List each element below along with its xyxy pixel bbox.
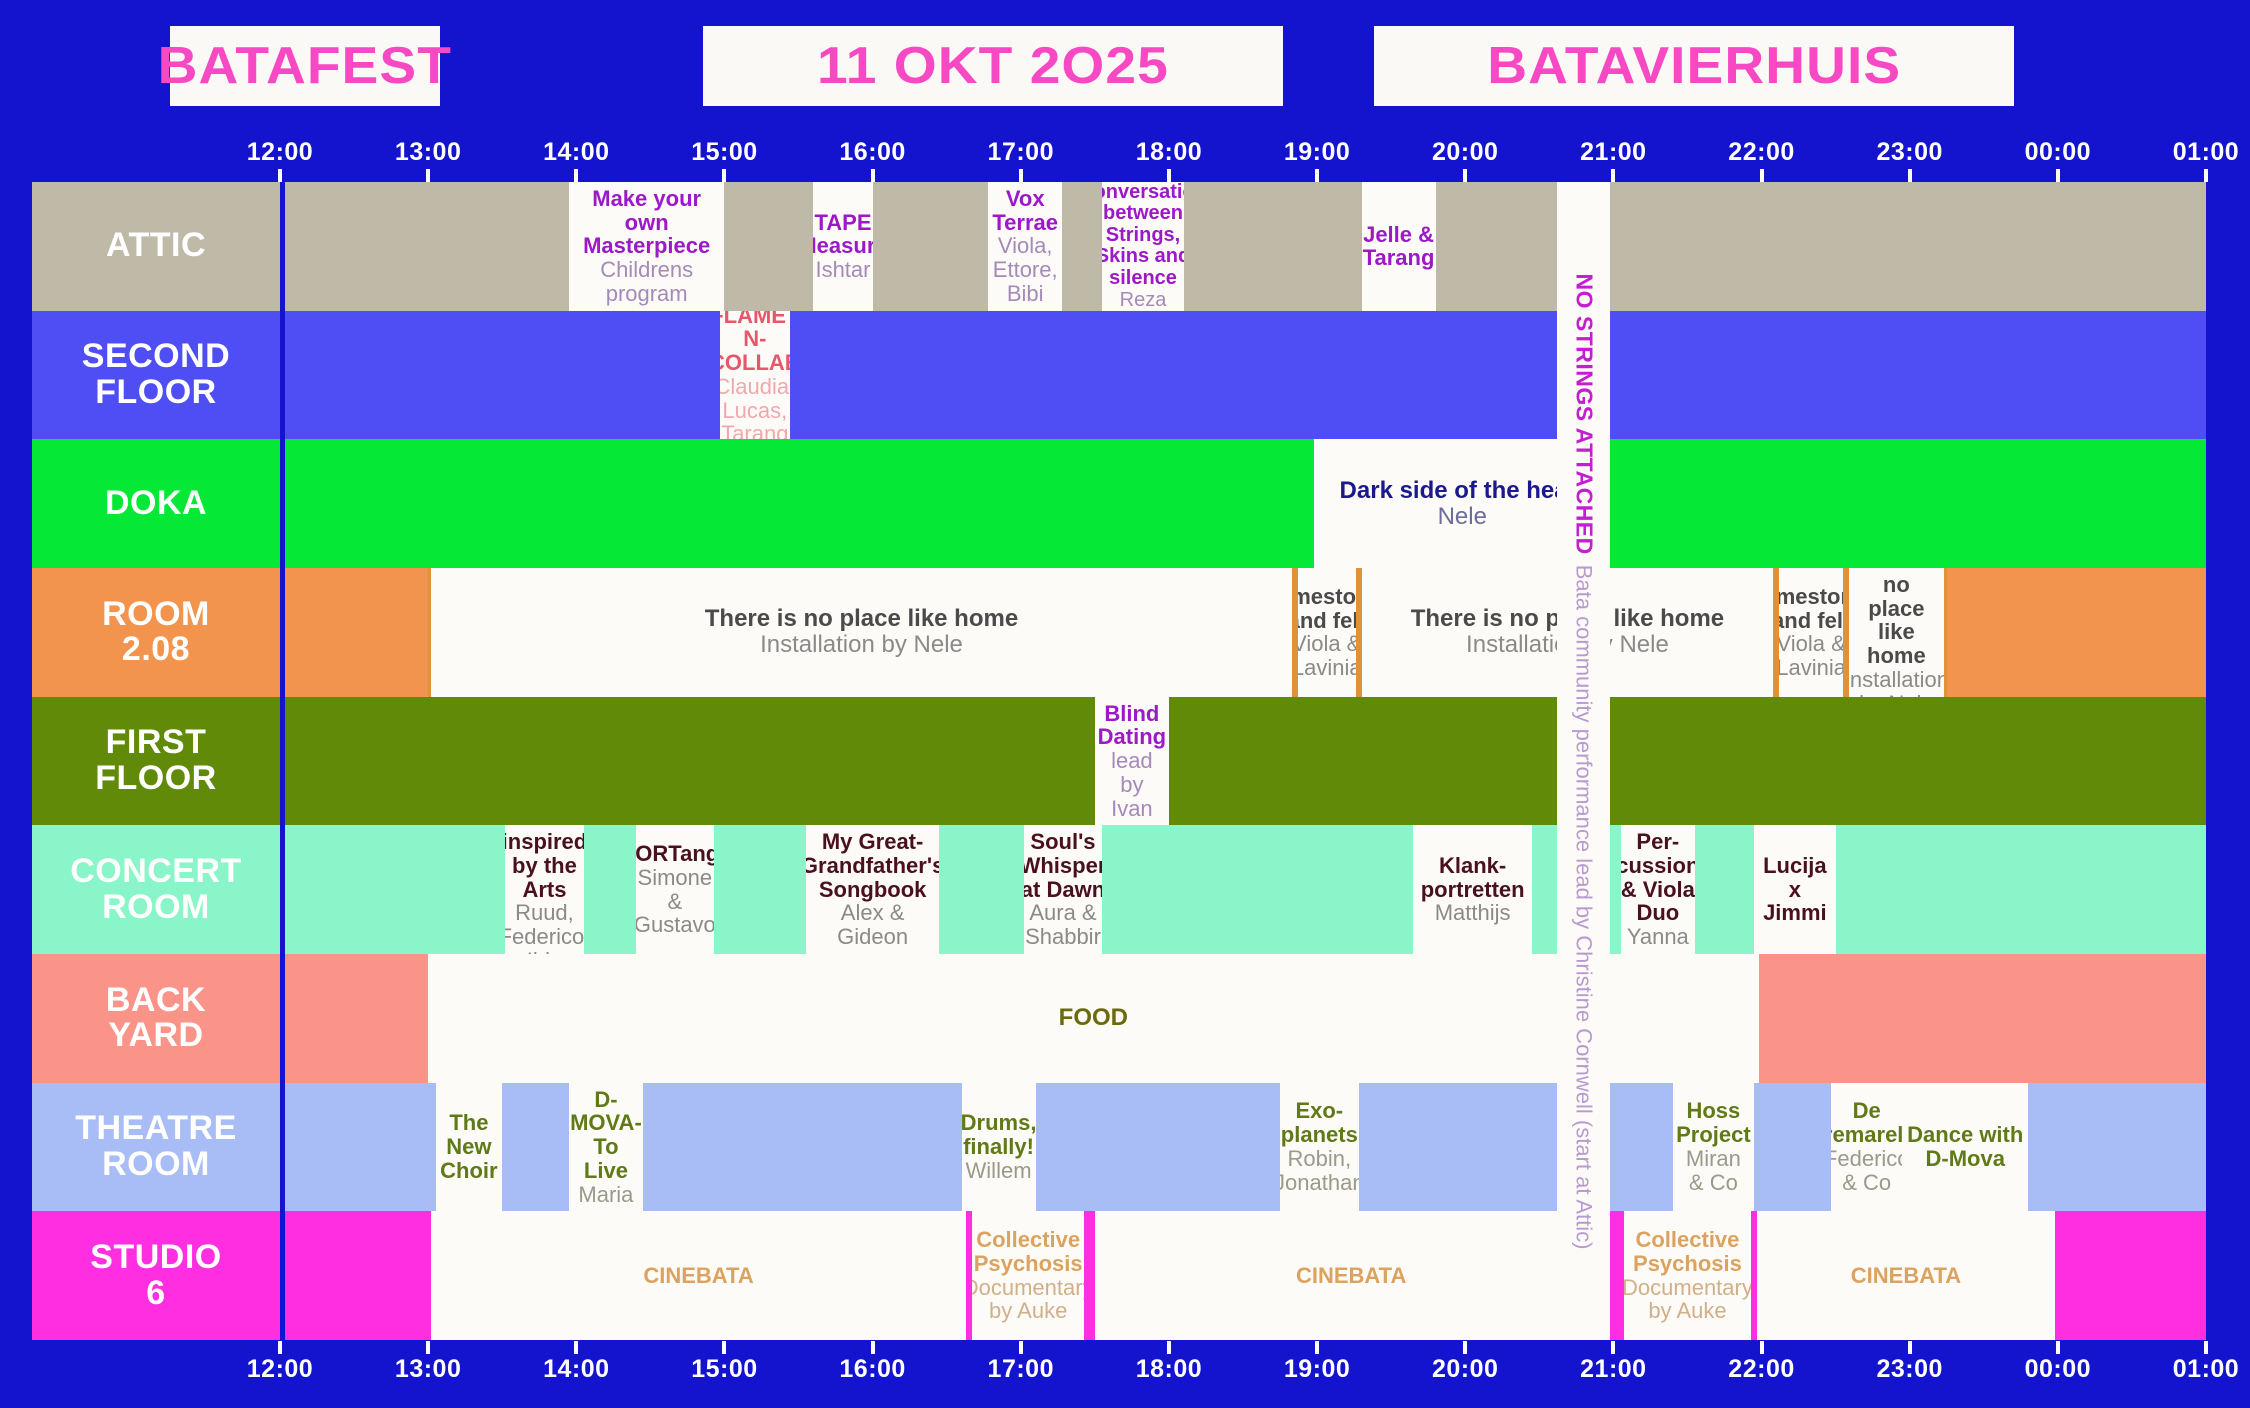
event-title: Collective Psychosis <box>1627 1228 1748 1276</box>
room-track: Blind Datinglead by Ivan <box>280 697 2206 826</box>
event-subtitle: Nele <box>1438 504 1487 530</box>
time-tick-mark <box>2056 1341 2060 1354</box>
event-block[interactable]: Drums, finally!Willem <box>962 1083 1036 1212</box>
festival-venue-box: BATAVIERHUIS <box>1374 26 2014 106</box>
event-title: Limestone and felt <box>1776 585 1846 633</box>
event-subtitle: Simone & Gustavo <box>636 866 715 937</box>
time-tick-mark <box>426 1341 430 1354</box>
event-title: Jelle & Tarang <box>1363 223 1435 271</box>
event-subtitle: Alex & Gideon <box>809 901 936 949</box>
room-track: Make your own MasterpieceChildrens progr… <box>280 182 2206 311</box>
time-tick-mark <box>574 1341 578 1354</box>
event-title: Hoss Project <box>1676 1099 1751 1147</box>
event-block[interactable]: Blind Datinglead by Ivan <box>1095 697 1169 826</box>
time-tick-mark <box>426 169 430 182</box>
schedule-grid: ATTICMake your own MasterpieceChildrens … <box>32 182 2206 1340</box>
time-tick-label: 00:00 <box>2025 1355 2091 1384</box>
event-title: Limestone and felt <box>1295 585 1359 633</box>
event-title: CINEBATA <box>1851 1264 1961 1288</box>
event-block[interactable]: Collective PsychosisDocumentary by Auke <box>1621 1211 1754 1340</box>
time-tick-label: 01:00 <box>2173 138 2239 167</box>
event-block[interactable]: Exo-planetsRobin, Jonathan <box>1280 1083 1359 1212</box>
time-tick-label: 12:00 <box>247 138 313 167</box>
time-tick-mark <box>2204 1341 2208 1354</box>
time-tick-mark <box>574 169 578 182</box>
time-tick-mark <box>1908 1341 1912 1354</box>
event-subtitle: Yanna <box>1627 925 1689 949</box>
time-tick-label: 14:00 <box>543 138 609 167</box>
event-title: Exo-planets <box>1281 1099 1358 1147</box>
room-label: ROOM2.08 <box>32 568 280 697</box>
event-subtitle: Ishtar <box>815 258 870 282</box>
time-tick-label: 23:00 <box>1876 1355 1942 1384</box>
event-block[interactable]: FLAME -N- COLLABClaudia, Lucas, Tarang <box>720 311 790 440</box>
no-strings-attached-subtitle: Bata community performance lead by Chris… <box>1570 564 1596 1249</box>
time-tick-mark <box>1167 1341 1171 1354</box>
event-title: CINEBATA <box>1296 1264 1406 1288</box>
event-subtitle: Installation by Nele <box>1846 668 1947 697</box>
schedule-row-concert-room: CONCERTROOMMusic inspired by the ArtsRuu… <box>32 825 2206 954</box>
time-tick-mark <box>1908 169 1912 182</box>
time-tick-mark <box>1019 1341 1023 1354</box>
time-tick-label: 15:00 <box>691 138 757 167</box>
event-block[interactable]: My Great-Grandfather's SongbookAlex & Gi… <box>806 825 939 954</box>
time-tick-mark <box>1611 169 1615 182</box>
event-block[interactable]: CINEBATA <box>428 1211 969 1340</box>
event-subtitle: Miran & Co <box>1676 1147 1751 1195</box>
time-tick-label: 01:00 <box>2173 1355 2239 1384</box>
schedule-row-studio-6: STUDIO6CINEBATACollective PsychosisDocum… <box>32 1211 2206 1340</box>
event-subtitle: Ruud, Federico, Ildo <box>505 901 584 953</box>
schedule-row-doka: DOKADark side of the heartNele <box>32 439 2206 568</box>
festival-date-box: 11 OKT 2O25 <box>703 26 1283 106</box>
event-block[interactable]: Klank-portrettenMatthijs <box>1413 825 1532 954</box>
time-tick-label: 19:00 <box>1284 1355 1350 1384</box>
event-block[interactable]: TAPE MeasureIshtar <box>813 182 872 311</box>
event-title: My Great-Grandfather's Songbook <box>806 830 939 901</box>
time-tick-mark <box>278 1341 282 1354</box>
time-tick-label: 13:00 <box>395 138 461 167</box>
time-tick-mark <box>871 169 875 182</box>
time-tick-mark <box>722 169 726 182</box>
festival-name: BATAFEST <box>158 36 452 96</box>
time-tick-mark <box>278 169 282 182</box>
event-block[interactable]: Per-cussion & Viola DuoYanna <box>1621 825 1695 954</box>
time-tick-label: 17:00 <box>988 138 1054 167</box>
event-block[interactable]: CINEBATA <box>1754 1211 2058 1340</box>
room-track: Dark side of the heartNele <box>280 439 2206 568</box>
header-band: BATAFEST 11 OKT 2O25 BATAVIERHUIS <box>0 26 2250 106</box>
event-subtitle: Aura & Shabbir <box>1025 901 1101 949</box>
schedule-row-second-floor: SECONDFLOORFLAME -N- COLLABClaudia, Luca… <box>32 311 2206 440</box>
time-tick-label: 21:00 <box>1580 1355 1646 1384</box>
room-label: BACKYARD <box>32 954 280 1083</box>
festival-venue: BATAVIERHUIS <box>1487 36 1901 96</box>
no-strings-attached-title: NO STRINGS ATTACHED <box>1570 273 1597 554</box>
time-tick-label: 14:00 <box>543 1355 609 1384</box>
time-tick-label: 00:00 <box>2025 138 2091 167</box>
event-title: There is no place like home <box>705 606 1018 632</box>
event-title: TAPE Measure <box>813 211 872 259</box>
event-title: Dark side of the heart <box>1340 478 1585 504</box>
time-tick-label: 17:00 <box>988 1355 1054 1384</box>
time-tick-mark <box>722 1341 726 1354</box>
festival-date: 11 OKT 2O25 <box>817 36 1169 96</box>
event-subtitle: Childrens program <box>572 258 722 306</box>
time-tick-label: 16:00 <box>839 138 905 167</box>
event-title: Dance with D-Mova <box>1905 1123 2025 1171</box>
room-label: FIRSTFLOOR <box>32 697 280 826</box>
event-block[interactable]: Vox TerraeViola, Ettore, Bibi <box>988 182 1062 311</box>
event-block[interactable]: Collective PsychosisDocumentary by Auke <box>969 1211 1088 1340</box>
event-title: CINEBATA <box>643 1264 753 1288</box>
event-title: Make your own Masterpiece <box>572 187 722 258</box>
schedule-row-back-yard: BACKYARDFOOD <box>32 954 2206 1083</box>
time-tick-mark <box>1315 1341 1319 1354</box>
event-subtitle: lead by Ivan <box>1098 749 1166 820</box>
room-track: FOOD <box>280 954 2206 1083</box>
schedule-row-attic: ATTICMake your own MasterpieceChildrens … <box>32 182 2206 311</box>
time-axis-top: 12:0013:0014:0015:0016:0017:0018:0019:00… <box>0 138 2250 172</box>
event-block[interactable]: CINEBATA <box>1092 1211 1611 1340</box>
time-tick-label: 15:00 <box>691 1355 757 1384</box>
room-label: CONCERTROOM <box>32 825 280 954</box>
event-block[interactable]: D-MOVA-To LiveMaria <box>569 1083 643 1212</box>
time-tick-label: 12:00 <box>247 1355 313 1384</box>
event-block[interactable]: Hoss ProjectMiran & Co <box>1673 1083 1754 1212</box>
time-tick-label: 23:00 <box>1876 138 1942 167</box>
event-block[interactable]: The New Choir <box>436 1083 503 1212</box>
time-tick-label: 22:00 <box>1728 138 1794 167</box>
event-subtitle: Federico & Co <box>1831 1147 1902 1195</box>
event-block[interactable]: Jelle & Tarang <box>1362 182 1436 311</box>
room-label: THEATREROOM <box>32 1083 280 1212</box>
time-tick-mark <box>1019 169 1023 182</box>
event-title: MORTango <box>636 842 715 866</box>
event-title: Blind Dating <box>1098 702 1166 750</box>
event-title: The New Choir <box>439 1111 500 1182</box>
event-subtitle: Viola & Lavinia <box>1295 632 1359 680</box>
time-axis-bottom: 12:0013:0014:0015:0016:0017:0018:0019:00… <box>0 1355 2250 1389</box>
event-subtitle: Documentary by Auke <box>969 1276 1088 1324</box>
room-track: FLAME -N- COLLABClaudia, Lucas, Tarang <box>280 311 2206 440</box>
event-title: FOOD <box>1059 1005 1128 1031</box>
event-title: Per-cussion & Viola Duo <box>1621 830 1695 925</box>
time-tick-mark <box>1167 169 1171 182</box>
time-tick-label: 16:00 <box>839 1355 905 1384</box>
time-tick-label: 22:00 <box>1728 1355 1794 1384</box>
time-tick-label: 13:00 <box>395 1355 461 1384</box>
event-title: Drums, finally! <box>962 1111 1036 1159</box>
event-title: Conversation between Strings, Skins and … <box>1102 182 1183 290</box>
event-title: FLAME -N- COLLAB <box>720 311 790 375</box>
festival-timetable: BATAFEST 11 OKT 2O25 BATAVIERHUIS 12:001… <box>0 0 2250 1408</box>
event-subtitle: Matthijs <box>1435 901 1511 925</box>
event-block[interactable]: Limestone and feltViola & Lavinia <box>1295 568 1359 697</box>
room-track: Music inspired by the ArtsRuud, Federico… <box>280 825 2206 954</box>
event-subtitle: Viola & Lavinia <box>1776 632 1846 680</box>
schedule-row-theatre-room: THEATREROOMThe New ChoirD-MOVA-To LiveMa… <box>32 1083 2206 1212</box>
event-subtitle: Viola, Ettore, Bibi <box>991 234 1059 305</box>
event-block[interactable]: Make your own MasterpieceChildrens progr… <box>569 182 725 311</box>
event-block[interactable]: Soul's Whisper at DawnAura & Shabbir <box>1024 825 1103 954</box>
room-track: CINEBATACollective PsychosisDocumentary … <box>280 1211 2206 1340</box>
event-block[interactable]: Music inspired by the ArtsRuud, Federico… <box>505 825 584 954</box>
time-tick-mark <box>2056 169 2060 182</box>
schedule-row-first-floor: FIRSTFLOORBlind Datinglead by Ivan <box>32 697 2206 826</box>
event-block[interactable]: There is no place like homeInstallation … <box>1846 568 1947 697</box>
midnight-rule <box>280 182 285 1340</box>
event-title: Vox Terrae <box>991 187 1059 235</box>
time-tick-mark <box>1760 169 1764 182</box>
event-title: Klank-portretten <box>1416 854 1529 902</box>
time-tick-label: 20:00 <box>1432 138 1498 167</box>
time-tick-label: 20:00 <box>1432 1355 1498 1384</box>
room-label: STUDIO6 <box>32 1211 280 1340</box>
event-title: D-MOVA-To Live <box>570 1088 642 1183</box>
event-title: Lucija x Jimmi <box>1757 854 1832 925</box>
room-track: The New ChoirD-MOVA-To LiveMariaDrums, f… <box>280 1083 2206 1212</box>
room-label: ATTIC <box>32 182 280 311</box>
event-subtitle: Claudia, Lucas, Tarang <box>720 375 790 439</box>
event-title: De Tremarella <box>1831 1099 1902 1147</box>
time-tick-label: 21:00 <box>1580 138 1646 167</box>
event-block[interactable]: De TremarellaFederico & Co <box>1831 1083 1902 1212</box>
time-tick-label: 19:00 <box>1284 138 1350 167</box>
event-block[interactable]: Dance with D-Mova <box>1902 1083 2028 1212</box>
event-block[interactable]: MORTangoSimone & Gustavo <box>636 825 715 954</box>
time-tick-mark <box>871 1341 875 1354</box>
event-title: Soul's Whisper at Dawn <box>1024 830 1103 901</box>
festival-name-box: BATAFEST <box>170 26 440 106</box>
time-tick-label: 18:00 <box>1136 138 1202 167</box>
event-block[interactable]: Lucija x Jimmi <box>1754 825 1835 954</box>
time-tick-mark <box>1463 169 1467 182</box>
schedule-row-room-2-08: ROOM2.08There is no place like homeInsta… <box>32 568 2206 697</box>
no-strings-attached-band[interactable]: NO STRINGS ATTACHEDBata community perfor… <box>1557 182 1610 1340</box>
time-tick-mark <box>1760 1341 1764 1354</box>
time-tick-mark <box>1611 1341 1615 1354</box>
event-subtitle: Documentary by Auke <box>1622 1276 1753 1324</box>
event-subtitle: Robin, Jonathan <box>1280 1147 1359 1195</box>
room-label: DOKA <box>32 439 280 568</box>
event-title: Music inspired by the Arts <box>505 825 584 901</box>
event-title: There is no place like home <box>1852 568 1941 668</box>
room-label: SECONDFLOOR <box>32 311 280 440</box>
event-subtitle: Reza <box>1120 290 1167 311</box>
event-subtitle: Willem <box>966 1159 1032 1183</box>
event-subtitle: Installation by Nele <box>760 632 963 658</box>
event-block[interactable]: Limestone and feltViola & Lavinia <box>1776 568 1846 697</box>
time-tick-mark <box>1463 1341 1467 1354</box>
event-title: Collective Psychosis <box>974 1228 1083 1276</box>
room-track: There is no place like homeInstallation … <box>280 568 2206 697</box>
time-tick-mark <box>2204 169 2208 182</box>
event-subtitle: Maria <box>578 1183 633 1207</box>
event-block[interactable]: There is no place like homeInstallation … <box>428 568 1295 697</box>
time-tick-label: 18:00 <box>1136 1355 1202 1384</box>
event-block[interactable]: Conversation between Strings, Skins and … <box>1102 182 1183 311</box>
time-tick-mark <box>1315 169 1319 182</box>
